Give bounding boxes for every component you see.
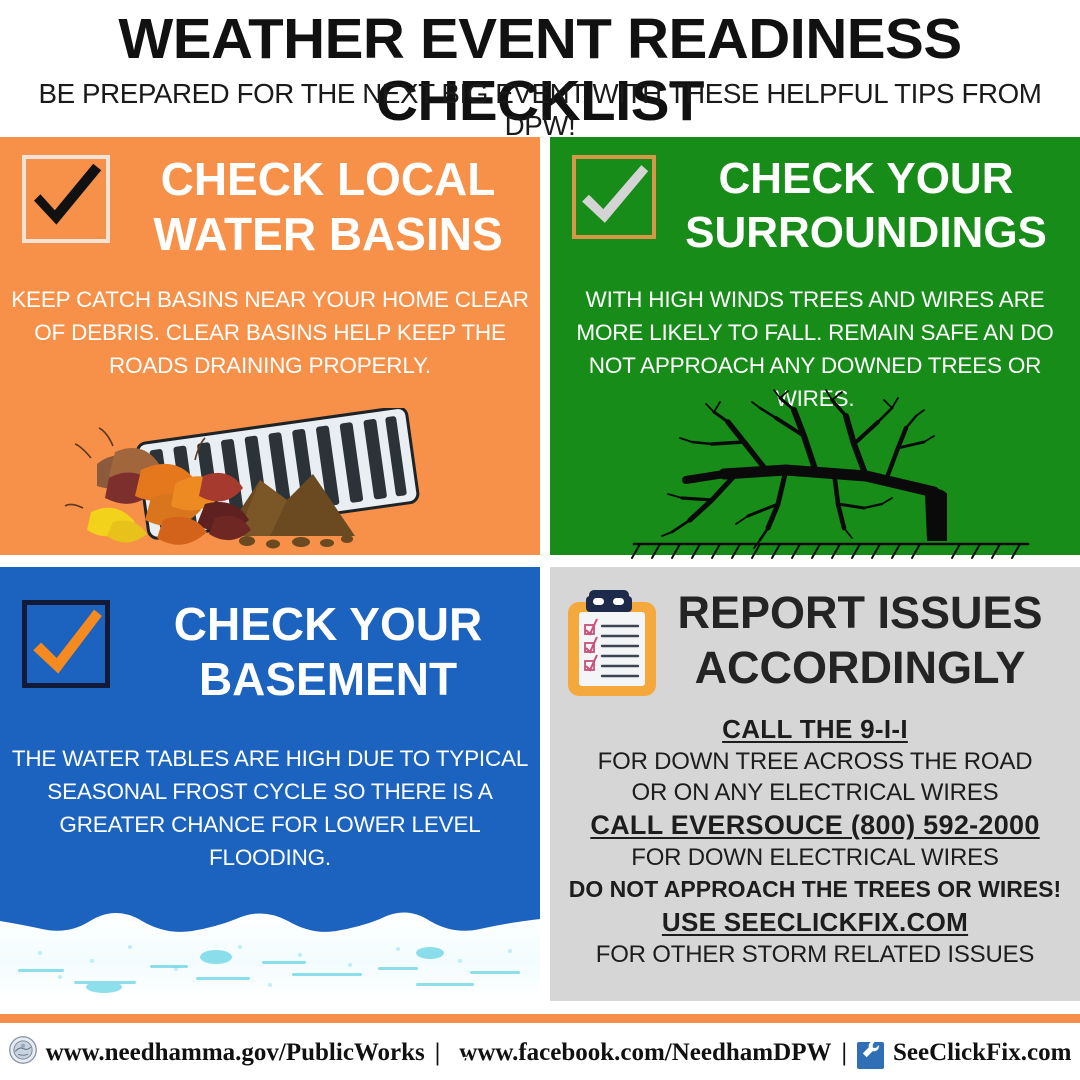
page-subtitle: BE PREPARED FOR THE NEXT BIG EVENT WITH … [5,78,1074,142]
contact-info-block: CALL THE 9-I-I FOR DOWN TREE ACROSS THE … [556,712,1074,970]
header: WEATHER EVENT READINESS CHECKLIST BE PRE… [0,0,1080,130]
contact-line-down-tree: FOR DOWN TREE ACROSS THE ROAD [556,746,1074,777]
footer-divider [0,1014,1080,1023]
clipboard-checklist-icon [564,588,660,700]
panel-heading-surroundings: CHECK YOUR SURROUNDINGS [664,152,1068,260]
town-seal-icon [9,1036,37,1071]
footer-seeclickfix-label: SeeClickFix.com [893,1039,1071,1067]
panel-heading-report-issues: REPORT ISSUES ACCORDINGLY [660,585,1060,695]
footer-website-item[interactable]: www.needhamma.gov/PublicWorks [9,1036,425,1071]
infographic-poster: WEATHER EVENT READINESS CHECKLIST BE PRE… [0,0,1080,1080]
panel-body-water-basins: KEEP CATCH BASINS NEAR YOUR HOME CLEAR O… [8,283,532,382]
checkbox-checked-icon [22,155,110,243]
checkbox-checked-icon [22,600,110,688]
contact-line-call-eversource: CALL EVERSOUCE (800) 592-2000 [556,808,1074,842]
contact-line-electrical-wires: OR ON ANY ELECTRICAL WIRES [556,777,1074,808]
fallen-tree-illustration [616,388,1046,560]
storm-drain-with-leaves-illustration [55,408,485,558]
panel-body-basement: THE WATER TABLES ARE HIGH DUE TO TYPICAL… [10,742,530,874]
footer: www.needhamma.gov/PublicWorks | www.face… [0,1026,1080,1080]
panel-heading-basement: CHECK YOUR BASEMENT [128,597,528,707]
footer-seeclickfix-item[interactable]: SeeClickFix.com [857,1036,1071,1070]
footer-facebook-label: www.facebook.com/NeedhamDPW [459,1039,831,1067]
contact-line-down-wires: FOR DOWN ELECTRICAL WIRES [556,842,1074,873]
water-wave-illustration [0,895,540,1001]
wrench-icon [857,1036,884,1070]
contact-line-seeclickfix: USE SEECLICKFIX.COM [556,905,1074,939]
footer-separator: | [425,1039,451,1067]
panel-heading-water-basins: CHECK LOCAL WATER BASINS [128,152,528,262]
footer-facebook-item[interactable]: www.facebook.com/NeedhamDPW [450,1039,831,1067]
footer-separator: | [831,1039,857,1067]
footer-website-label: www.needhamma.gov/PublicWorks [46,1039,425,1067]
contact-line-do-not-approach: DO NOT APPROACH THE TREES OR WIRES! [556,873,1074,905]
contact-line-call-911: CALL THE 9-I-I [556,712,1074,746]
contact-line-other-issues: FOR OTHER STORM RELATED ISSUES [556,939,1074,970]
checkbox-checked-icon [572,155,656,239]
